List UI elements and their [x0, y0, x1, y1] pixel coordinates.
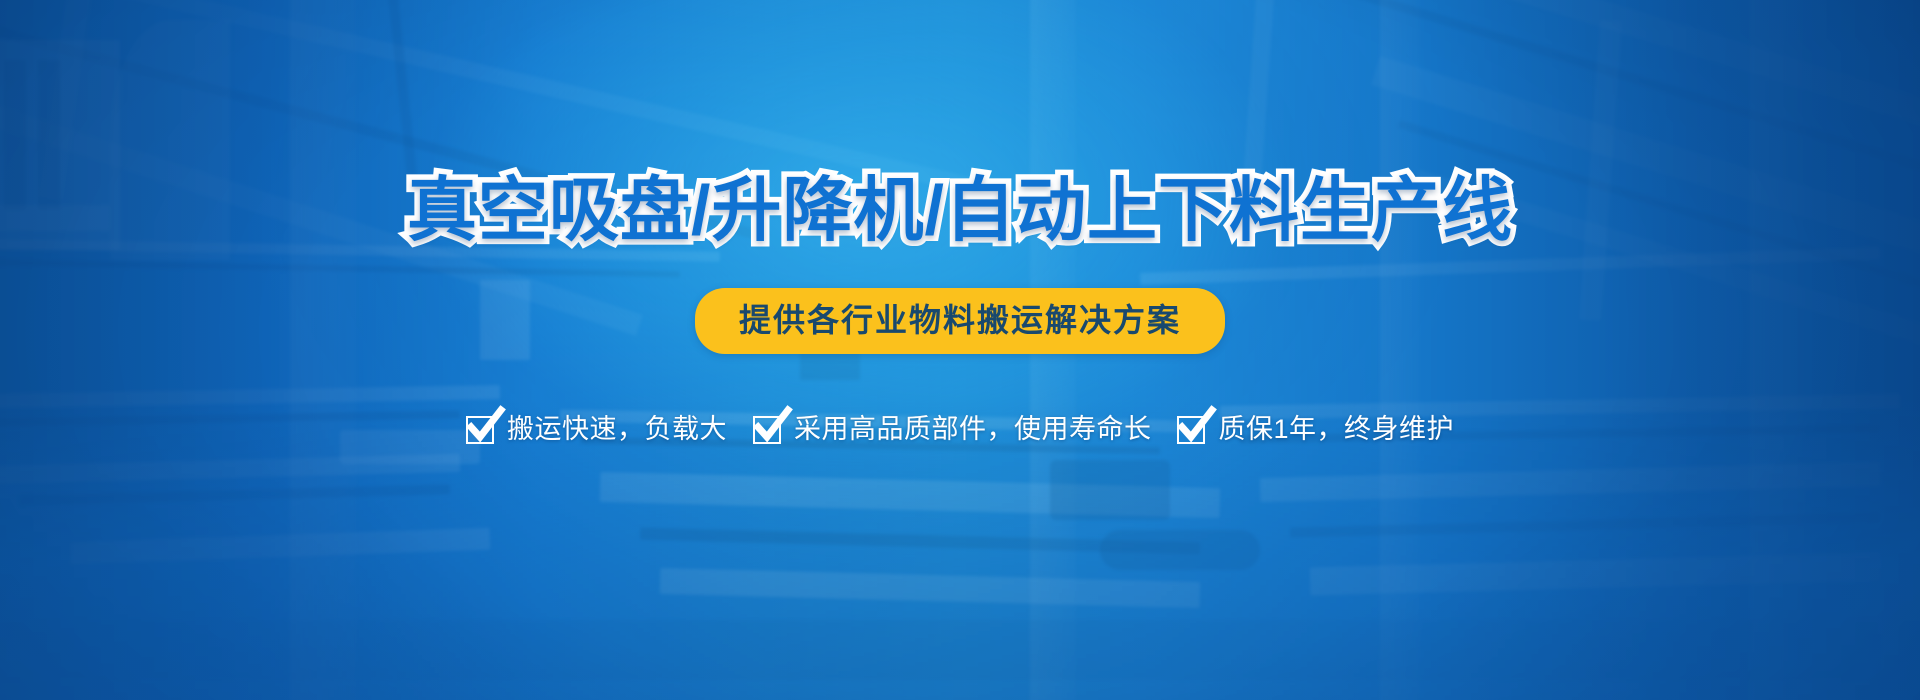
banner-content: 真空吸盘/升降机/自动上下料生产线 提供各行业物料搬运解决方案 搬运快速，负载大	[0, 0, 1920, 700]
feature-item-2: 采用高品质部件，使用寿命长	[753, 412, 1152, 446]
banner-subtitle-pill: 提供各行业物料搬运解决方案	[695, 288, 1225, 354]
feature-label-3: 质保1年，终身维护	[1218, 416, 1454, 443]
promo-banner: 真空吸盘/升降机/自动上下料生产线 提供各行业物料搬运解决方案 搬运快速，负载大	[0, 0, 1920, 700]
banner-subtitle-row: 提供各行业物料搬运解决方案	[0, 288, 1920, 354]
checkmark-icon	[753, 412, 787, 446]
checkmark-icon	[1177, 412, 1211, 446]
feature-item-1: 搬运快速，负载大	[466, 412, 727, 446]
banner-headline: 真空吸盘/升降机/自动上下料生产线	[0, 175, 1920, 245]
feature-label-1: 搬运快速，负载大	[507, 416, 727, 443]
feature-list: 搬运快速，负载大 采用高品质部件，使用寿命长 质保1	[0, 412, 1920, 446]
feature-item-3: 质保1年，终身维护	[1177, 412, 1454, 446]
feature-label-2: 采用高品质部件，使用寿命长	[794, 416, 1152, 443]
checkmark-icon	[466, 412, 500, 446]
